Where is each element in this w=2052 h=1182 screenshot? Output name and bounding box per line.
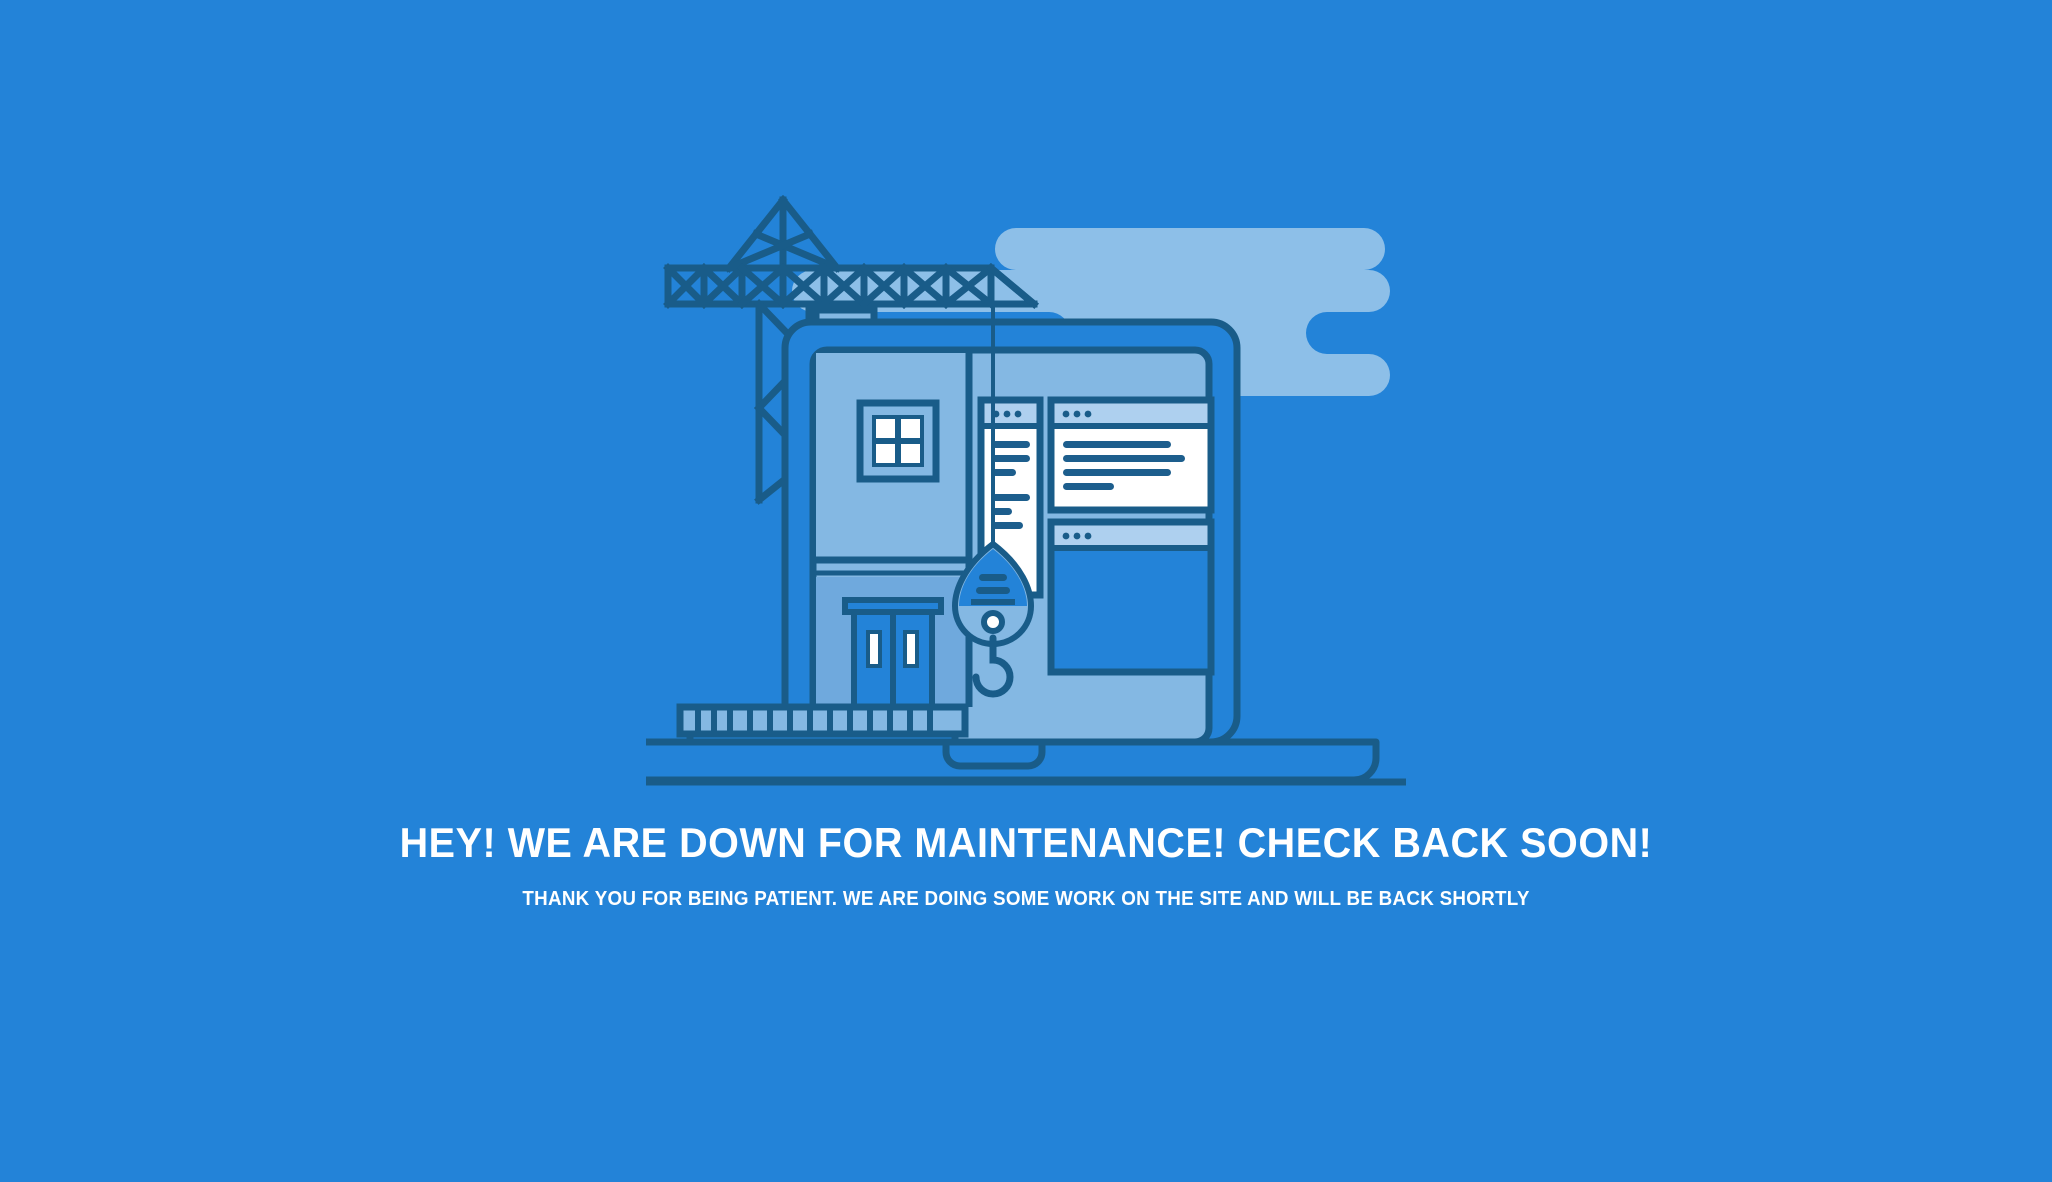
illustration-container (0, 0, 2052, 790)
crane-lattice-x3 (742, 268, 783, 304)
under-construction-illustration (646, 170, 1406, 790)
building-facade (816, 353, 969, 708)
page-subline: THANK YOU FOR BEING PATIENT. WE ARE DOIN… (62, 888, 1991, 911)
laptop-base (646, 742, 1376, 780)
crane-lattice-x2 (704, 268, 742, 304)
page-headline: HEY! WE ARE DOWN FOR MAINTENANCE! CHECK … (62, 820, 1991, 866)
browser-window-lower (1051, 522, 1211, 672)
crane-lattice-x1 (668, 268, 704, 304)
maintenance-message: HEY! WE ARE DOWN FOR MAINTENANCE! CHECK … (0, 820, 2052, 911)
building-door-icon (845, 600, 941, 708)
building-window-icon (860, 403, 936, 479)
browser-window-main (1051, 400, 1211, 510)
maintenance-page: HEY! WE ARE DOWN FOR MAINTENANCE! CHECK … (0, 0, 2052, 1182)
